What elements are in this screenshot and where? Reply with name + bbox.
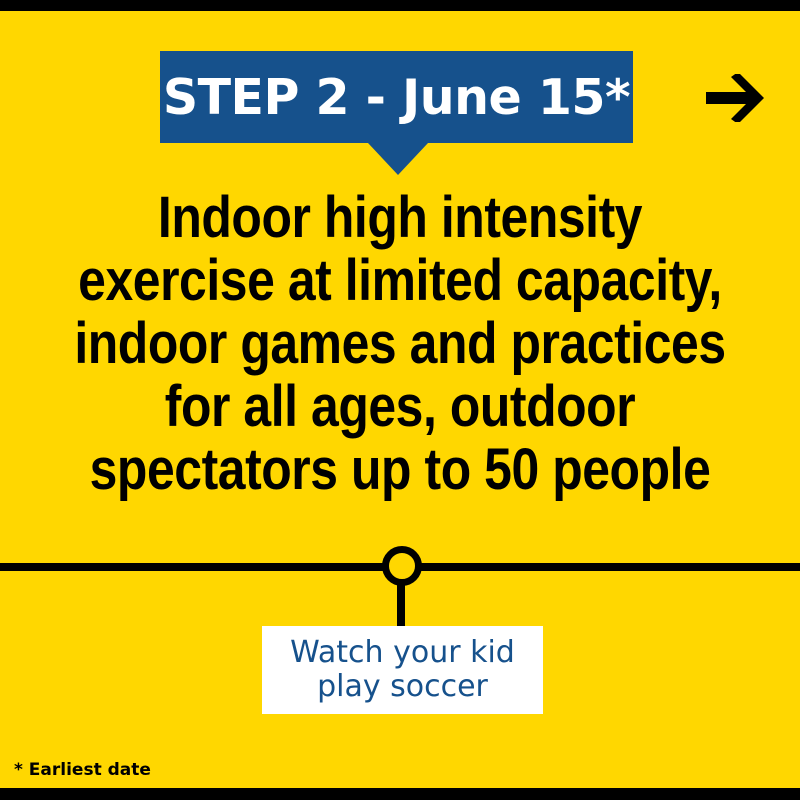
step-banner-label: STEP 2 - June 15*: [163, 73, 630, 122]
arrow-right-icon[interactable]: [706, 74, 766, 122]
headline-line: exercise at limited capacity,: [65, 249, 736, 312]
headline-line: for all ages, outdoor: [65, 375, 736, 438]
headline-line: spectators up to 50 people: [65, 438, 736, 501]
timeline-callout-box: Watch your kid play soccer: [262, 626, 543, 714]
step-banner-tail: [368, 143, 428, 175]
infographic-canvas: STEP 2 - June 15* Indoor high intensity …: [0, 0, 800, 800]
bottom-black-bar: [0, 788, 800, 800]
timeline-stem: [397, 582, 405, 628]
timeline-callout-label: Watch your kid play soccer: [290, 636, 515, 704]
circle-marker-icon: [382, 546, 422, 586]
step-banner: STEP 2 - June 15*: [160, 51, 633, 143]
headline-line: Indoor high intensity: [65, 186, 736, 249]
page-title: Indoor high intensity exercise at limite…: [65, 186, 736, 501]
headline-line: indoor games and practices: [65, 312, 736, 375]
top-black-bar: [0, 0, 800, 11]
footnote-text: * Earliest date: [14, 760, 151, 780]
